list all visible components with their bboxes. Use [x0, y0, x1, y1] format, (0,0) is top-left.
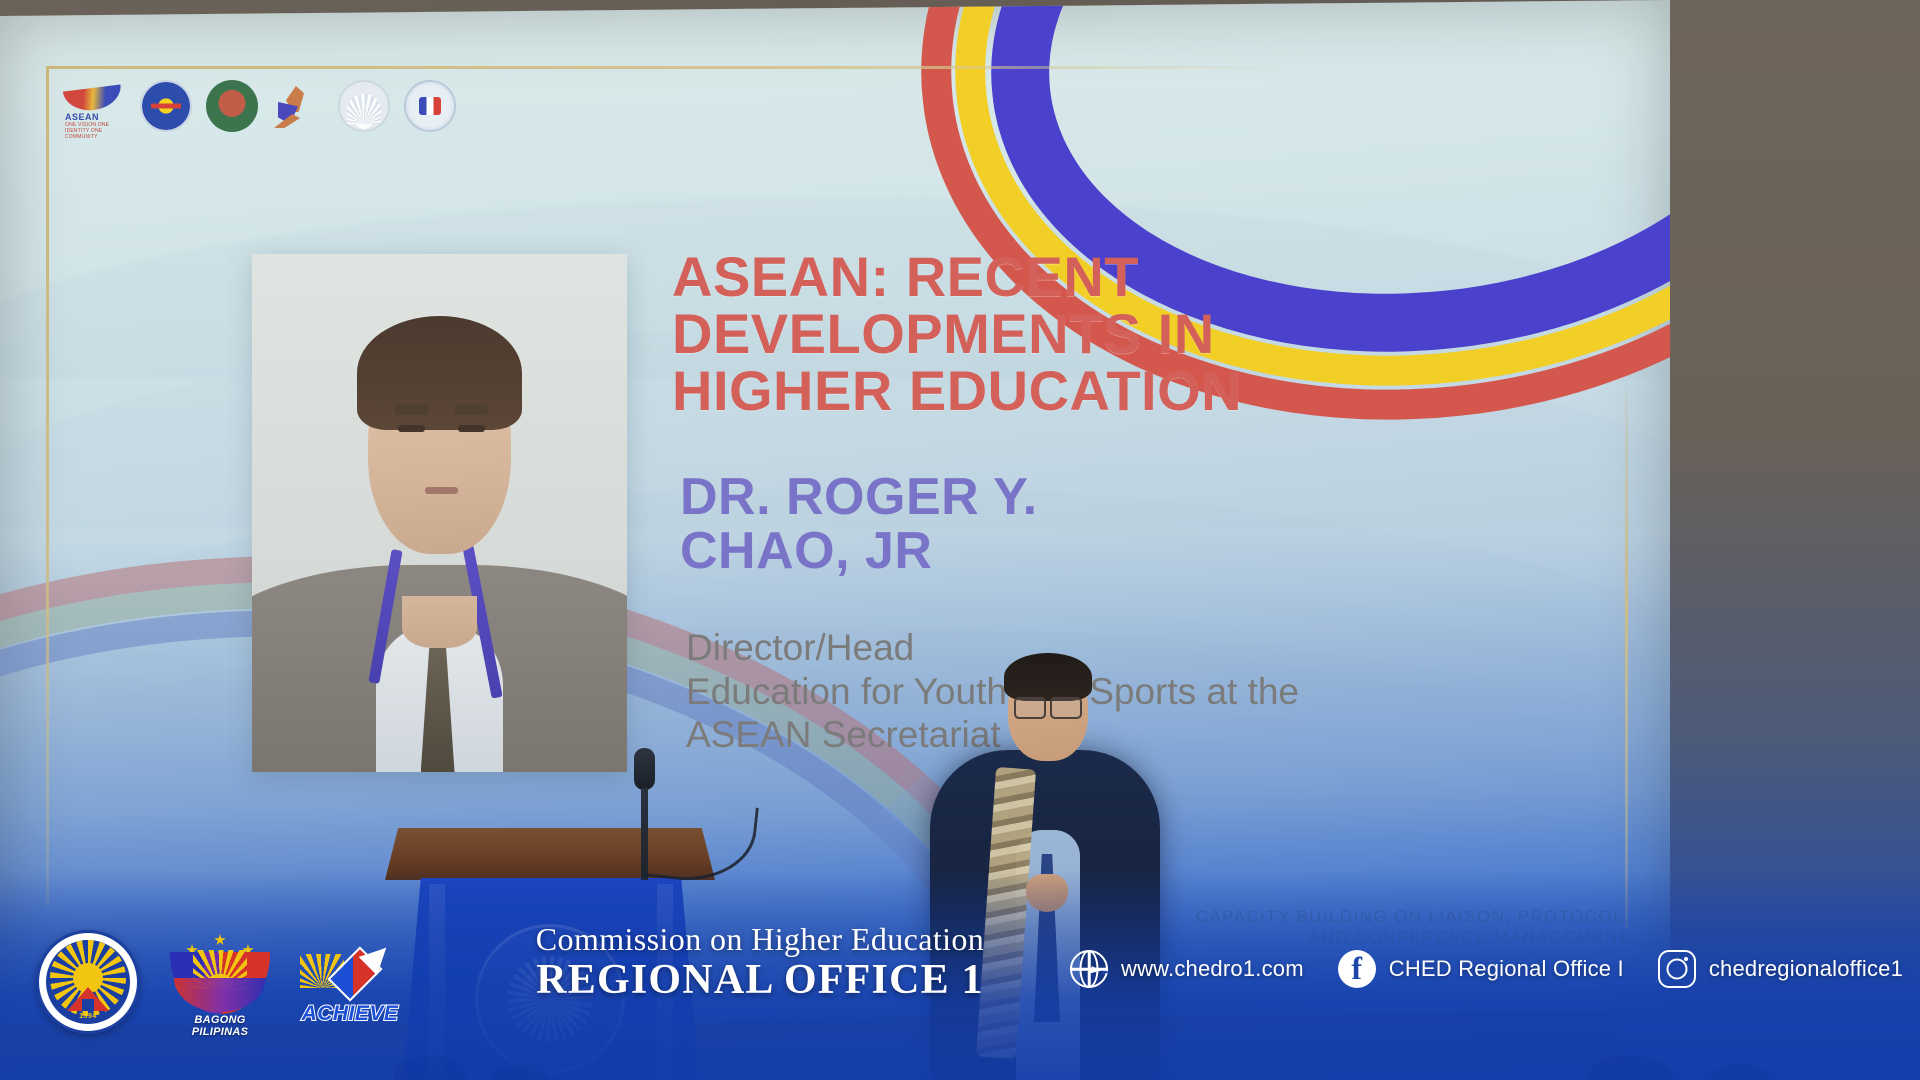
- slide-footer-event-title: CAPACITY BUILDING ON LIAISON, PROTOCOL, …: [1180, 906, 1630, 949]
- speaker-glasses: [1014, 697, 1082, 715]
- banner-org-line-2: REGIONAL OFFICE 1: [490, 958, 1030, 1002]
- social-website-label: www.chedro1.com: [1121, 956, 1304, 982]
- green-circle-emblem-logo: [206, 80, 258, 132]
- globe-cursor-icon: [1070, 950, 1108, 988]
- slide-frame-left: [46, 66, 49, 906]
- bagong-pilipinas-label: BAGONG PILIPINAS: [168, 1014, 272, 1038]
- social-facebook[interactable]: CHED Regional Office I: [1338, 950, 1624, 988]
- slide-title: ASEAN: RECENT DEVELOPMENTS IN HIGHER EDU…: [672, 248, 1372, 419]
- instagram-icon: [1658, 950, 1696, 988]
- bird-emblem-logo: [272, 80, 324, 132]
- slide-frame-top: [46, 66, 1292, 69]
- social-facebook-label: CHED Regional Office I: [1389, 956, 1624, 982]
- social-website[interactable]: www.chedro1.com: [1070, 950, 1304, 988]
- slide-title-line-1: ASEAN: RECENT: [672, 248, 1372, 305]
- slide-speaker-name: DR. ROGER Y. CHAO, JR: [680, 470, 1320, 578]
- ched-seal-logo: 1994: [36, 930, 140, 1034]
- slide-footer-line-2: AND CONFERENCE MANAGEMENT: [1180, 927, 1630, 948]
- slide-frame-right: [1625, 388, 1628, 928]
- live-speaker: [930, 645, 1160, 1080]
- slide-title-line-2: DEVELOPMENTS IN: [672, 305, 1372, 362]
- slide-logo-row: ASEAN ONE VISION ONE IDENTITY ONE COMMUN…: [62, 80, 456, 132]
- shell-emblem-logo: [338, 80, 390, 132]
- agency-seal-logo: [404, 80, 456, 132]
- social-instagram[interactable]: chedregionaloffice1: [1658, 950, 1903, 988]
- achieve-label: ACHIEVE: [300, 1002, 400, 1026]
- banner-logo-group: 1994 BAGONG PILIPINAS ACHIEVE: [36, 930, 400, 1034]
- microphone: [625, 748, 665, 878]
- achieve-logo: ACHIEVE: [300, 934, 400, 1034]
- slide-footer-line-1: CAPACITY BUILDING ON LIAISON, PROTOCOL,: [1180, 906, 1630, 927]
- ched-seal-year: 1994: [79, 1013, 97, 1020]
- slide-speaker-name-line-1: DR. ROGER Y.: [680, 470, 1320, 524]
- banner-org-line-1: Commission on Higher Education: [490, 921, 1030, 958]
- projection-screen: ASEAN ONE VISION ONE IDENTITY ONE COMMUN…: [0, 0, 1670, 1026]
- social-instagram-label: chedregionaloffice1: [1709, 956, 1903, 982]
- slide-speaker-name-line-2: CHAO, JR: [680, 524, 1320, 578]
- speaker-portrait-photo: [252, 254, 627, 772]
- bagong-pilipinas-logo: BAGONG PILIPINAS: [168, 934, 272, 1034]
- facebook-icon: [1338, 950, 1376, 988]
- slide-title-line-3: HIGHER EDUCATION: [672, 362, 1372, 419]
- banner-org-title: Commission on Higher Education REGIONAL …: [490, 921, 1030, 1002]
- asean-logo: ASEAN ONE VISION ONE IDENTITY ONE COMMUN…: [62, 80, 126, 132]
- screenshot-frame: ASEAN ONE VISION ONE IDENTITY ONE COMMUN…: [0, 0, 1920, 1080]
- banner-social-links: www.chedro1.com CHED Regional Office I c…: [1070, 950, 1903, 988]
- asean-logo-sublabel: ONE VISION ONE IDENTITY ONE COMMUNITY: [65, 122, 126, 140]
- asean-logo-label: ASEAN: [65, 112, 99, 122]
- philippine-seal-logo: [140, 80, 192, 132]
